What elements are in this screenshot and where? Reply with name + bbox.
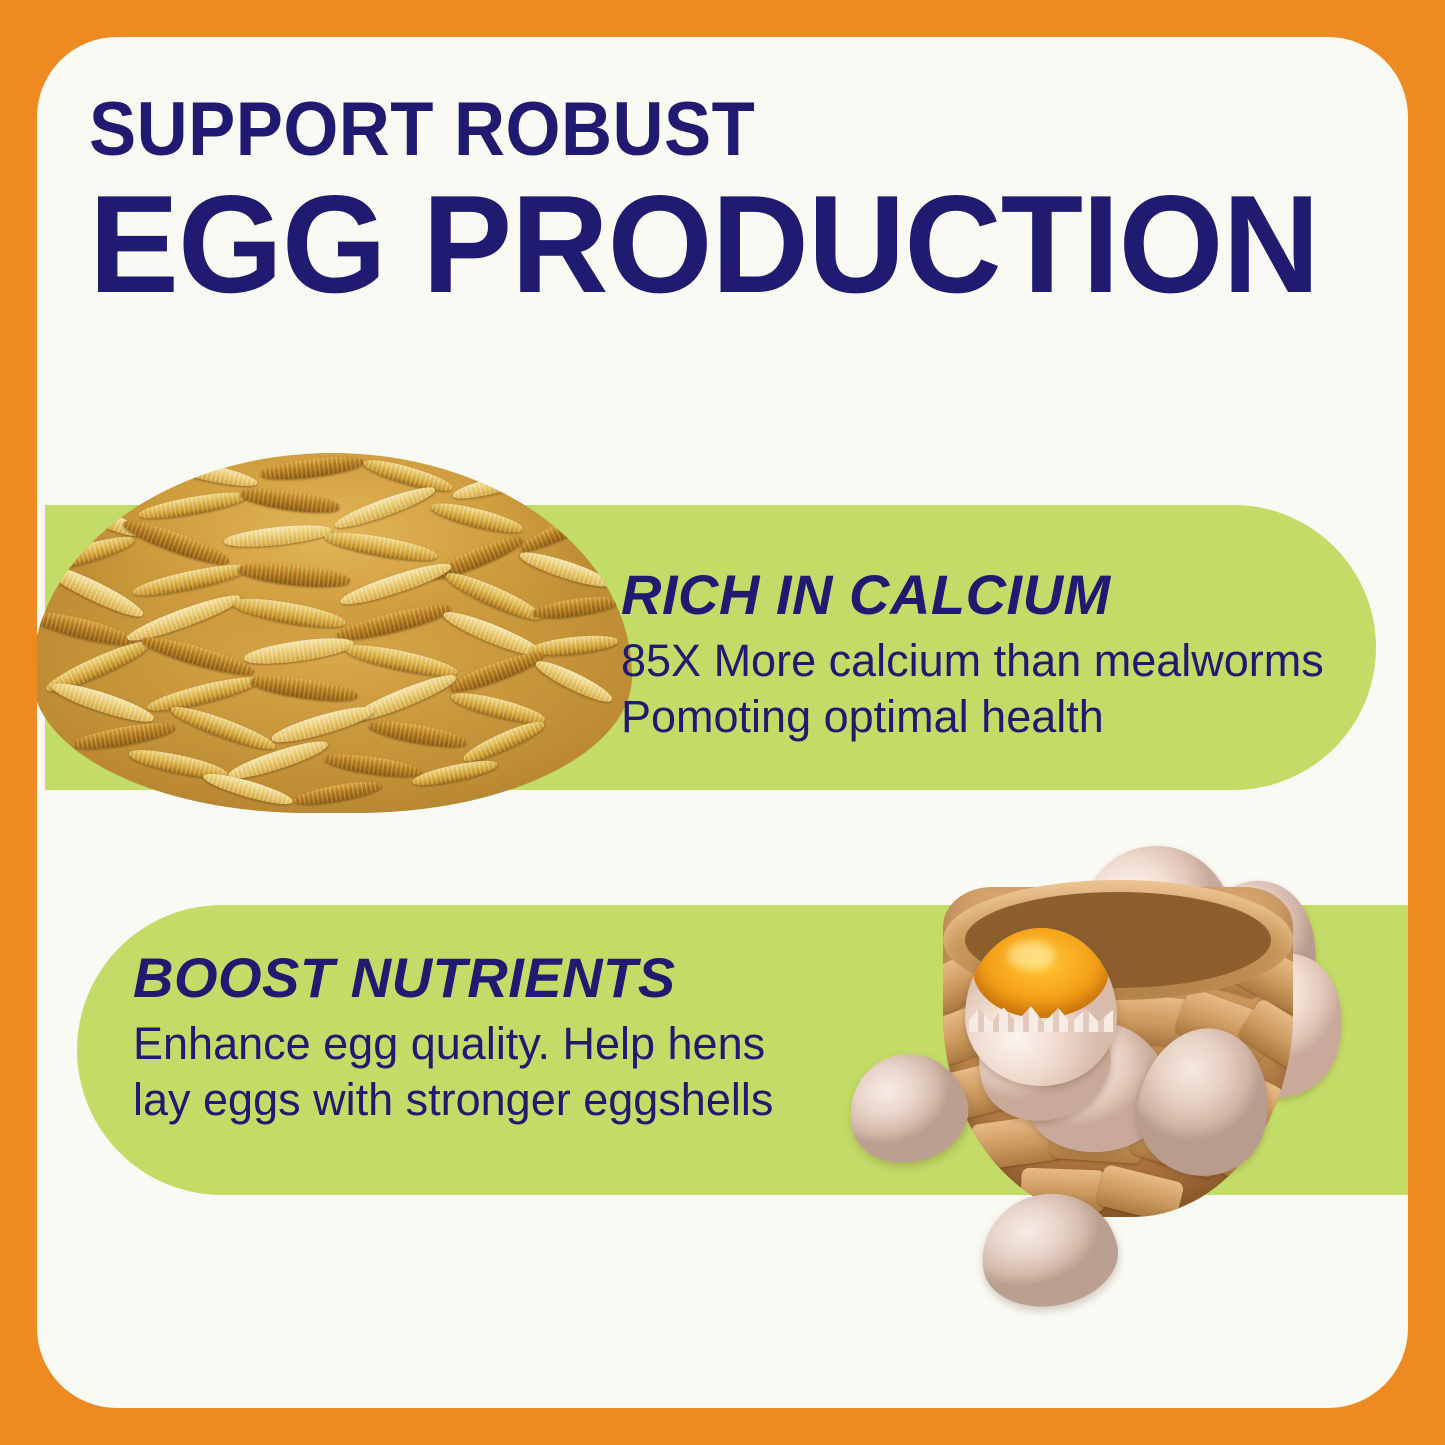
headline-line-two: EGG PRODUCTION: [89, 174, 1340, 316]
feature-nutrients-body: Enhance egg quality. Help hens lay eggs …: [133, 1016, 773, 1129]
page-title: SUPPORT ROBUST EGG PRODUCTION: [89, 92, 1379, 316]
feature-nutrients-body-line-one: Enhance egg quality. Help hens: [133, 1016, 773, 1072]
headline-line-one: SUPPORT ROBUST: [89, 92, 1289, 168]
feature-calcium-body-line-two: Pomoting optimal health: [621, 689, 1324, 745]
feature-calcium: RICH IN CALCIUM 85X More calcium than me…: [621, 566, 1324, 745]
feature-nutrients-title: BOOST NUTRIENTS: [133, 949, 773, 1008]
feature-calcium-body-line-one: 85X More calcium than mealworms: [621, 633, 1324, 689]
product-infographic-poster: SUPPORT ROBUST EGG PRODUCTION: [0, 0, 1445, 1445]
feature-calcium-body: 85X More calcium than mealworms Pomoting…: [621, 633, 1324, 746]
white-content-panel: SUPPORT ROBUST EGG PRODUCTION: [37, 37, 1408, 1408]
loose-egg-bottom: [972, 1183, 1125, 1317]
feature-nutrients: BOOST NUTRIENTS Enhance egg quality. Hel…: [133, 949, 773, 1128]
feature-calcium-title: RICH IN CALCIUM: [621, 566, 1324, 625]
feature-nutrients-body-line-two: lay eggs with stronger eggshells: [133, 1072, 773, 1128]
